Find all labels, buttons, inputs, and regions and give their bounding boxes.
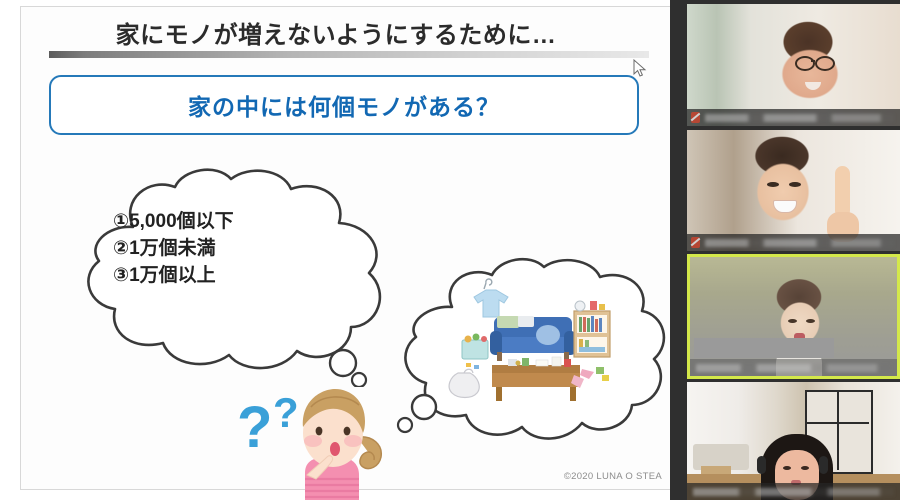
- question-callout-text: 家の中には何個モノがある？: [188, 88, 500, 122]
- mic-muted-icon: [691, 237, 700, 248]
- shared-slide-region[interactable]: 家にモノが増えないようにするために… 家の中には何個モノがある？ ①5,000個…: [0, 0, 670, 500]
- title-divider-rule: [49, 51, 649, 58]
- video-tile-participant-4[interactable]: [687, 382, 900, 500]
- participant-name-bar: [690, 359, 897, 376]
- video-feed: [687, 4, 900, 126]
- answer-option-3: ③1万個以上: [113, 263, 363, 290]
- answer-options-list: ①5,000個以下 ②1万個未満 ③1万個以上: [113, 209, 363, 290]
- answer-option-2: ②1万個未満: [113, 236, 363, 263]
- video-tile-participant-2[interactable]: [687, 130, 900, 251]
- video-tile-participant-3-active-speaker[interactable]: [687, 254, 900, 379]
- copyright-notice: ©2020 LUNA O STEA: [564, 471, 662, 482]
- participant-name-bar: [687, 234, 900, 251]
- slide-title: 家にモノが増えないようにするために…: [21, 15, 651, 50]
- thinking-woman-illustration: [233, 375, 413, 500]
- participant-name-blurred: [705, 114, 894, 122]
- question-callout-box: 家の中には何個モノがある？: [49, 75, 639, 135]
- room-thought-bubble: [396, 255, 666, 445]
- participant-name-blurred: [705, 239, 894, 247]
- participant-name-blurred: [693, 488, 894, 496]
- answer-option-1: ①5,000個以下: [113, 209, 363, 236]
- mouse-cursor: [633, 59, 647, 78]
- participant-name-blurred: [696, 364, 891, 372]
- video-feed: [687, 130, 900, 251]
- participant-filmstrip[interactable]: [670, 0, 900, 500]
- video-tile-participant-1[interactable]: [687, 4, 900, 126]
- answer-thought-bubble: ①5,000個以下 ②1万個未満 ③1万個以上: [71, 167, 401, 387]
- mic-muted-icon: [691, 112, 700, 123]
- participant-name-bar: [687, 483, 900, 500]
- participant-name-bar: [687, 109, 900, 126]
- bookshelf-icon: [574, 301, 610, 357]
- presentation-slide: 家にモノが増えないようにするために… 家の中には何個モノがある？ ①5,000個…: [20, 6, 670, 490]
- screen-share-window: 家にモノが増えないようにするために… 家の中には何個モノがある？ ①5,000個…: [0, 0, 900, 500]
- thought-bubble-outline-icon: [396, 255, 666, 445]
- person-thinking-icon: [233, 375, 413, 500]
